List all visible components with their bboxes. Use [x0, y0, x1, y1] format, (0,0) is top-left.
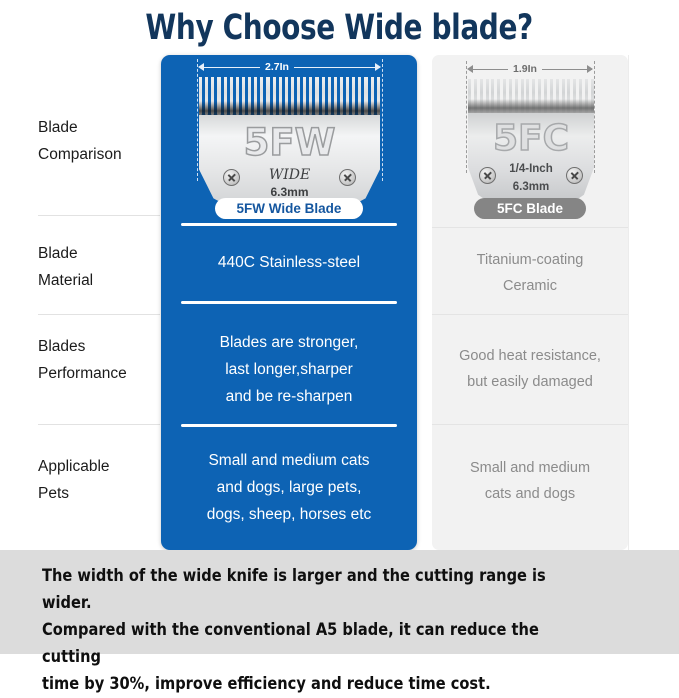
- dimension-label: 1.9In: [508, 61, 542, 77]
- featured-divider-2: [181, 301, 397, 304]
- featured-performance-line: last longer,sharper: [171, 356, 407, 383]
- row-label-applicable-pets: Applicable Pets: [38, 440, 160, 520]
- footer-band: The width of the wide knife is larger an…: [0, 550, 679, 654]
- row-label-line2: Comparison: [38, 141, 122, 168]
- dimension-arrow-right: [375, 63, 381, 71]
- featured-material: 440C Stainless-steel: [171, 249, 407, 276]
- compare-pets-line: Small and medium: [436, 455, 624, 481]
- comparison-table: Blade Comparison Blade Material Blades P…: [0, 55, 679, 550]
- extension-line-left: [197, 59, 198, 181]
- featured-performance-line: Blades are stronger,: [171, 329, 407, 356]
- dimension-arrow-left: [467, 65, 473, 73]
- featured-material-text: 440C Stainless-steel: [218, 254, 360, 271]
- compare-performance-line: Good heat resistance,: [436, 343, 624, 369]
- row-label-line1: Blade: [38, 114, 122, 141]
- blade-screw-right: [339, 169, 356, 186]
- footer-text: The width of the wide knife is larger an…: [42, 563, 567, 698]
- row-label-column: Blade Comparison Blade Material Blades P…: [0, 55, 160, 550]
- featured-pets-line: dogs, sheep, horses etc: [171, 501, 407, 528]
- compare-performance: Good heat resistance, but easily damaged: [436, 343, 624, 395]
- featured-performance-line: and be re-sharpen: [171, 383, 407, 410]
- blade-pill-5fw[interactable]: 5FW Wide Blade: [215, 198, 363, 219]
- featured-divider-1: [181, 223, 397, 226]
- extension-line-right: [382, 59, 383, 181]
- row-label-blades-performance: Blades Performance: [38, 320, 160, 400]
- compare-material-line: Ceramic: [436, 273, 624, 299]
- blade-graphic-5fc: 5FC 1/4-Inch 6.3mm: [468, 79, 594, 207]
- blade-dimension-5fc: 1.9In: [432, 61, 628, 77]
- row-label-line1: Blade: [38, 240, 93, 267]
- featured-pets: Small and medium cats and dogs, large pe…: [171, 447, 407, 528]
- blade-screw-left: [223, 169, 240, 186]
- extension-line-right: [594, 61, 595, 173]
- blade-graphic-5fw: 5FW WIDE 6.3mm: [199, 77, 380, 212]
- compare-divider-2: [432, 314, 628, 315]
- featured-column-5fw[interactable]: 2.7In 5FW WIDE 6.3mm 5FW Wide Blade 440C…: [161, 55, 417, 550]
- compare-divider-3: [432, 424, 628, 425]
- row-label-line2: Pets: [38, 480, 110, 507]
- footer-line: Compared with the conventional A5 blade,…: [42, 617, 567, 671]
- dimension-label: 2.7In: [260, 59, 294, 75]
- dimension-arrow-left: [198, 63, 204, 71]
- footer-line: The width of the wide knife is larger an…: [42, 563, 567, 617]
- blade-stamp-5fc: 5FC: [468, 119, 594, 159]
- row-label-line1: Blades: [38, 333, 127, 360]
- blade-mark-size: 6.3mm: [199, 185, 380, 199]
- row-label-blade-material: Blade Material: [38, 227, 160, 307]
- row-divider: [38, 215, 160, 216]
- featured-pets-line: Small and medium cats: [171, 447, 407, 474]
- compare-performance-line: but easily damaged: [436, 369, 624, 395]
- compare-material: Titanium-coating Ceramic: [436, 247, 624, 299]
- compare-column-5fc[interactable]: 1.9In 5FC 1/4-Inch 6.3mm 5FC Blade Titan…: [432, 55, 628, 550]
- blade-stamp-5fw: 5FW: [199, 123, 380, 163]
- featured-performance: Blades are stronger, last longer,sharper…: [171, 329, 407, 410]
- row-divider: [38, 314, 160, 315]
- compare-divider-1: [432, 227, 628, 228]
- blade-pill-5fc[interactable]: 5FC Blade: [474, 198, 586, 219]
- dimension-arrow-right: [587, 65, 593, 73]
- page-header: Why Choose Wide blade?: [0, 0, 679, 55]
- blade-screw-right: [566, 167, 583, 184]
- compare-pets: Small and medium cats and dogs: [436, 455, 624, 507]
- row-label-line2: Material: [38, 267, 93, 294]
- blade-screw-left: [479, 167, 496, 184]
- row-label-line2: Performance: [38, 360, 127, 387]
- blade-dimension-5fw: 2.7In: [161, 59, 417, 75]
- row-label-line1: Applicable: [38, 453, 110, 480]
- featured-divider-3: [181, 424, 397, 427]
- compare-pets-line: cats and dogs: [436, 481, 624, 507]
- panel-right-edge: [628, 55, 629, 550]
- page-title: Why Choose Wide blade?: [146, 8, 533, 48]
- featured-pets-line: and dogs, large pets,: [171, 474, 407, 501]
- compare-material-line: Titanium-coating: [436, 247, 624, 273]
- footer-line: time by 30%, improve efficiency and redu…: [42, 671, 567, 698]
- extension-line-left: [466, 61, 467, 173]
- row-label-blade-comparison: Blade Comparison: [38, 101, 160, 181]
- row-divider: [38, 424, 160, 425]
